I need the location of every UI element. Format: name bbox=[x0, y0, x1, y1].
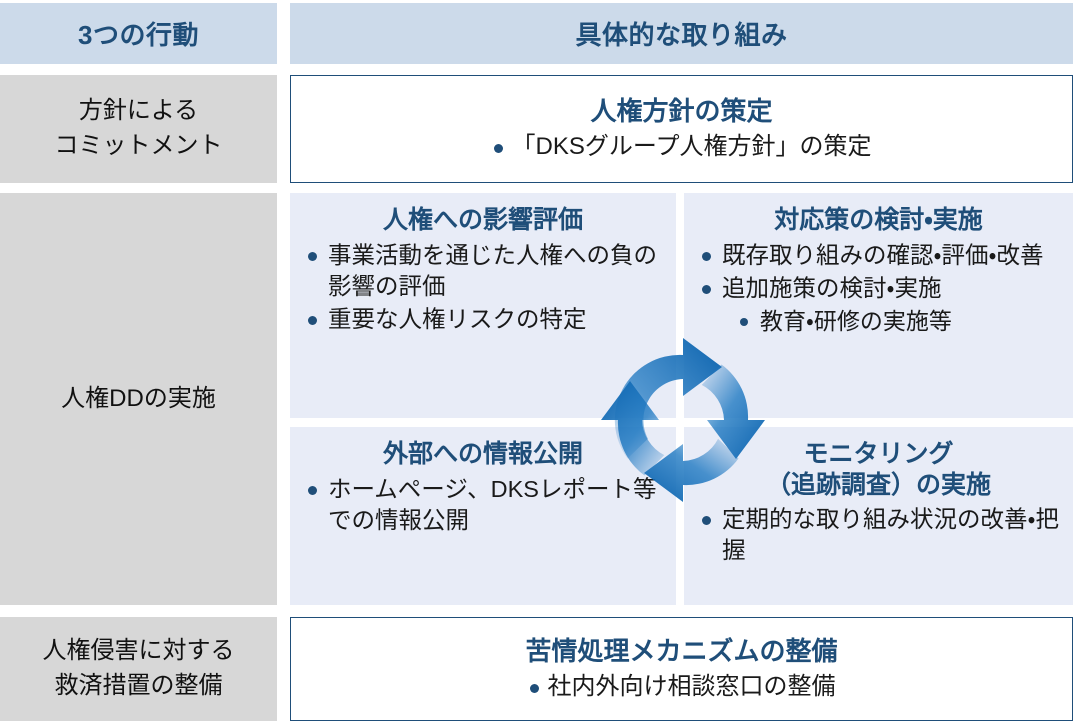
policy-box: 人権方針の策定 「DKSグループ人権方針」の策定 bbox=[290, 75, 1073, 183]
policy-box-bullet-wrap: 「DKSグループ人権方針」の策定 bbox=[492, 132, 872, 162]
policy-box-title: 人権方針の策定 bbox=[590, 96, 772, 127]
quadrant-bullets-countermeasures: 既存取り組みの確認・評価・改善 追加施策の検討・実施 教育・研修の実施等 bbox=[698, 240, 1059, 340]
list-item: 既存取り組みの確認・評価・改善 bbox=[698, 240, 1059, 271]
row-label-policy-commitment: 方針による コミットメント bbox=[0, 75, 277, 183]
row-label-remedy-line-2: 救済措置の整備 bbox=[55, 669, 223, 704]
header-right-column: 具体的な取り組み bbox=[290, 3, 1073, 64]
quadrant-disclosure: 外部への情報公開 ホームページ、DKSレポート等での情報公開 bbox=[290, 427, 676, 605]
quadrant-title-monitoring: モニタリング （追跡調査）の実施 bbox=[698, 439, 1059, 500]
list-item-sub: 教育・研修の実施等 bbox=[698, 306, 1059, 337]
row-label-line-2: コミットメント bbox=[55, 129, 223, 164]
list-item: 追加施策の検討・実施 bbox=[698, 273, 1059, 304]
quadrant-title-disclosure: 外部への情報公開 bbox=[304, 439, 662, 470]
row-label-human-rights-dd: 人権DDの実施 bbox=[0, 193, 277, 605]
header-left-column: 3つの行動 bbox=[0, 3, 277, 64]
row-label-remedy: 人権侵害に対する 救済措置の整備 bbox=[0, 617, 277, 721]
row-label-dd-line-1: 人権DDの実施 bbox=[61, 382, 216, 417]
list-item: ホームページ、DKSレポート等での情報公開 bbox=[304, 474, 662, 537]
quadrant-monitoring: モニタリング （追跡調査）の実施 定期的な取り組み状況の改善・把握 bbox=[684, 427, 1073, 605]
header-right-label: 具体的な取り組み bbox=[575, 15, 787, 52]
quadrant-bullets-monitoring: 定期的な取り組み状況の改善・把握 bbox=[698, 504, 1059, 569]
row-label-line-1: 方針による bbox=[79, 94, 198, 129]
row-label-remedy-line-1: 人権侵害に対する bbox=[43, 634, 235, 669]
header-left-label: 3つの行動 bbox=[78, 15, 199, 52]
quadrant-title-countermeasures: 対応策の検討・実施 bbox=[698, 205, 1059, 236]
grievance-box-bullet-wrap: 社内外向け相談窓口の整備 bbox=[528, 672, 836, 702]
grievance-box-title: 苦情処理メカニズムの整備 bbox=[525, 636, 837, 667]
list-item: 定期的な取り組み状況の改善・把握 bbox=[698, 504, 1059, 567]
grievance-box-bullet: 社内外向け相談窓口の整備 bbox=[528, 672, 836, 702]
list-item: 重要な人権リスクの特定 bbox=[304, 304, 662, 335]
grievance-box: 苦情処理メカニズムの整備 社内外向け相談窓口の整備 bbox=[290, 617, 1073, 721]
list-item: 事業活動を通じた人権への負の影響の評価 bbox=[304, 240, 662, 303]
policy-box-bullet: 「DKSグループ人権方針」の策定 bbox=[492, 132, 872, 162]
quadrant-bullets-impact-assessment: 事業活動を通じた人権への負の影響の評価 重要な人権リスクの特定 bbox=[304, 240, 662, 338]
quadrant-title-impact-assessment: 人権への影響評価 bbox=[304, 205, 662, 236]
quadrant-bullets-disclosure: ホームページ、DKSレポート等での情報公開 bbox=[304, 474, 662, 539]
diagram-root: 3つの行動 具体的な取り組み 方針による コミットメント 人権方針の策定 「DK… bbox=[0, 0, 1075, 726]
quadrant-countermeasures: 対応策の検討・実施 既存取り組みの確認・評価・改善 追加施策の検討・実施 教育・… bbox=[684, 193, 1073, 418]
quadrant-impact-assessment: 人権への影響評価 事業活動を通じた人権への負の影響の評価 重要な人権リスクの特定 bbox=[290, 193, 676, 418]
